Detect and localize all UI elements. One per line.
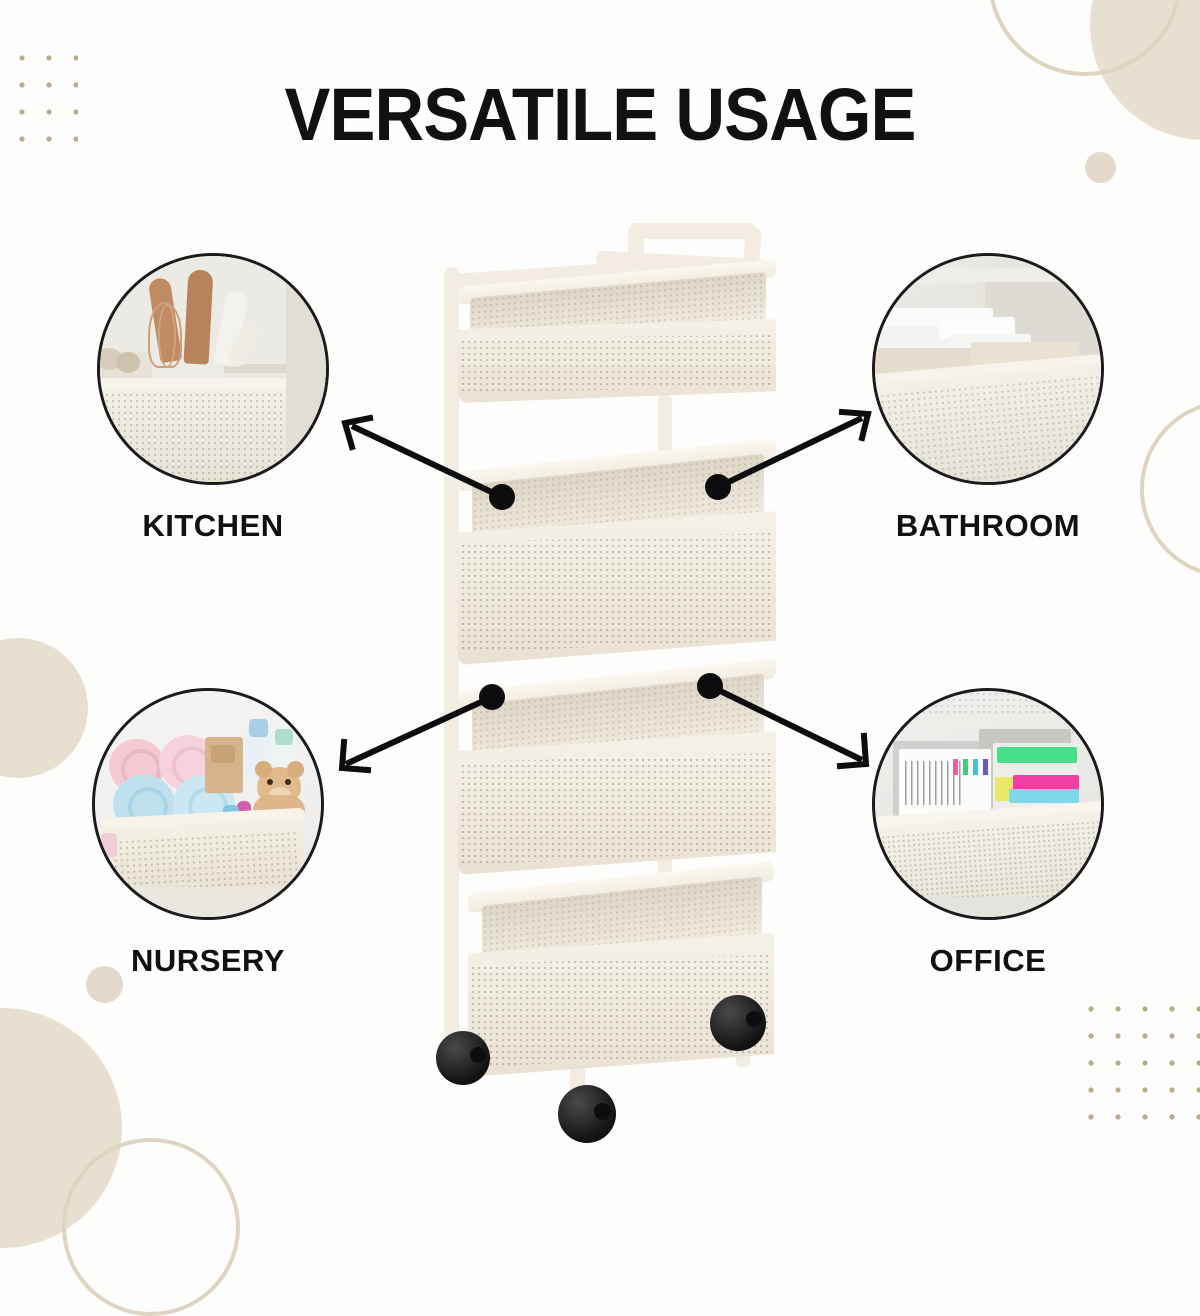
bathroom-label: BATHROOM: [896, 508, 1080, 544]
caster-front: [558, 1085, 616, 1143]
nursery-basket-handle: [101, 833, 117, 857]
kitchen-basket-top-edge: [100, 378, 290, 389]
cart-basket-tier-1[interactable]: [458, 273, 776, 403]
cart-basket-tier-3[interactable]: [458, 675, 776, 875]
caster-left: [436, 1031, 490, 1085]
ring-top-right: [988, 0, 1182, 76]
office-label: OFFICE: [930, 943, 1047, 979]
arrow-office-head: [840, 736, 866, 766]
office-tab-purple: [983, 759, 988, 775]
bathroom-photo[interactable]: [872, 253, 1104, 485]
cart-basket-tier-2[interactable]: [458, 455, 776, 665]
office-surface: [875, 897, 1101, 917]
product-cart[interactable]: [400, 205, 800, 1155]
kitchen-whisk: [158, 304, 176, 368]
office-scene: [875, 691, 1101, 917]
tier1-body-mesh: [462, 335, 770, 393]
nursery-scene: [95, 691, 321, 917]
nursery-teddy-ear: [287, 761, 304, 778]
kitchen-side-wall: [286, 256, 326, 482]
caster-front-hub: [594, 1103, 611, 1120]
kitchen-label: KITCHEN: [142, 508, 283, 544]
bathroom-scene: [875, 256, 1101, 482]
feature-bathroom[interactable]: BATHROOM: [872, 253, 1104, 553]
dot-grid-bottom-right-icon: [1088, 1006, 1200, 1134]
cart-handle-bar: [628, 223, 756, 239]
kitchen-produce: [116, 352, 140, 373]
kitchen-scene: [100, 256, 326, 482]
nursery-surface: [95, 887, 321, 917]
nursery-bottle-green-cap: [275, 729, 293, 745]
office-tab-green: [963, 759, 968, 775]
kitchen-photo[interactable]: [97, 253, 329, 485]
feature-nursery[interactable]: NURSERY: [92, 688, 324, 988]
tier3-body-mesh: [462, 753, 772, 865]
arrow-kitchen-head: [345, 418, 370, 447]
nursery-bottle-blue-cap: [249, 719, 268, 737]
kitchen-basket-mesh: [100, 394, 290, 480]
arrow-nursery-head: [342, 742, 368, 770]
office-sheet-green: [997, 747, 1077, 763]
cart-left-post: [444, 293, 459, 1063]
infographic-canvas: VERSATILE USAGE: [0, 0, 1200, 1200]
nursery-teddy-eye: [285, 779, 291, 785]
page-title: VERSATILE USAGE: [42, 78, 1158, 152]
nursery-teddy-ear: [255, 761, 272, 778]
caster-right: [710, 995, 766, 1051]
office-upper-shelf-mesh: [875, 691, 1101, 713]
feature-kitchen[interactable]: KITCHEN: [97, 253, 329, 553]
ring-bottom-left: [62, 1138, 240, 1316]
arrow-bathroom-head: [842, 412, 868, 438]
dot-top-right-small: [1085, 152, 1116, 183]
nursery-photo[interactable]: [92, 688, 324, 920]
nursery-wooden-block: [211, 745, 235, 763]
office-tab-pink: [953, 759, 958, 775]
office-shelf-edge: [875, 713, 1101, 725]
nursery-label: NURSERY: [131, 943, 285, 979]
tier2-body-mesh: [462, 533, 772, 653]
kitchen-wooden-spatula: [184, 269, 214, 364]
office-tab-cyan: [973, 759, 978, 775]
caster-left-hub: [470, 1047, 486, 1063]
ring-right-middle: [1140, 400, 1200, 578]
office-photo[interactable]: [872, 688, 1104, 920]
blob-bottom-left: [0, 1008, 122, 1248]
caster-right-hub: [746, 1011, 762, 1027]
office-sheet-blue: [1009, 789, 1079, 803]
feature-office[interactable]: OFFICE: [872, 688, 1104, 988]
blob-left-middle: [0, 638, 88, 778]
nursery-teddy-eye: [267, 779, 273, 785]
